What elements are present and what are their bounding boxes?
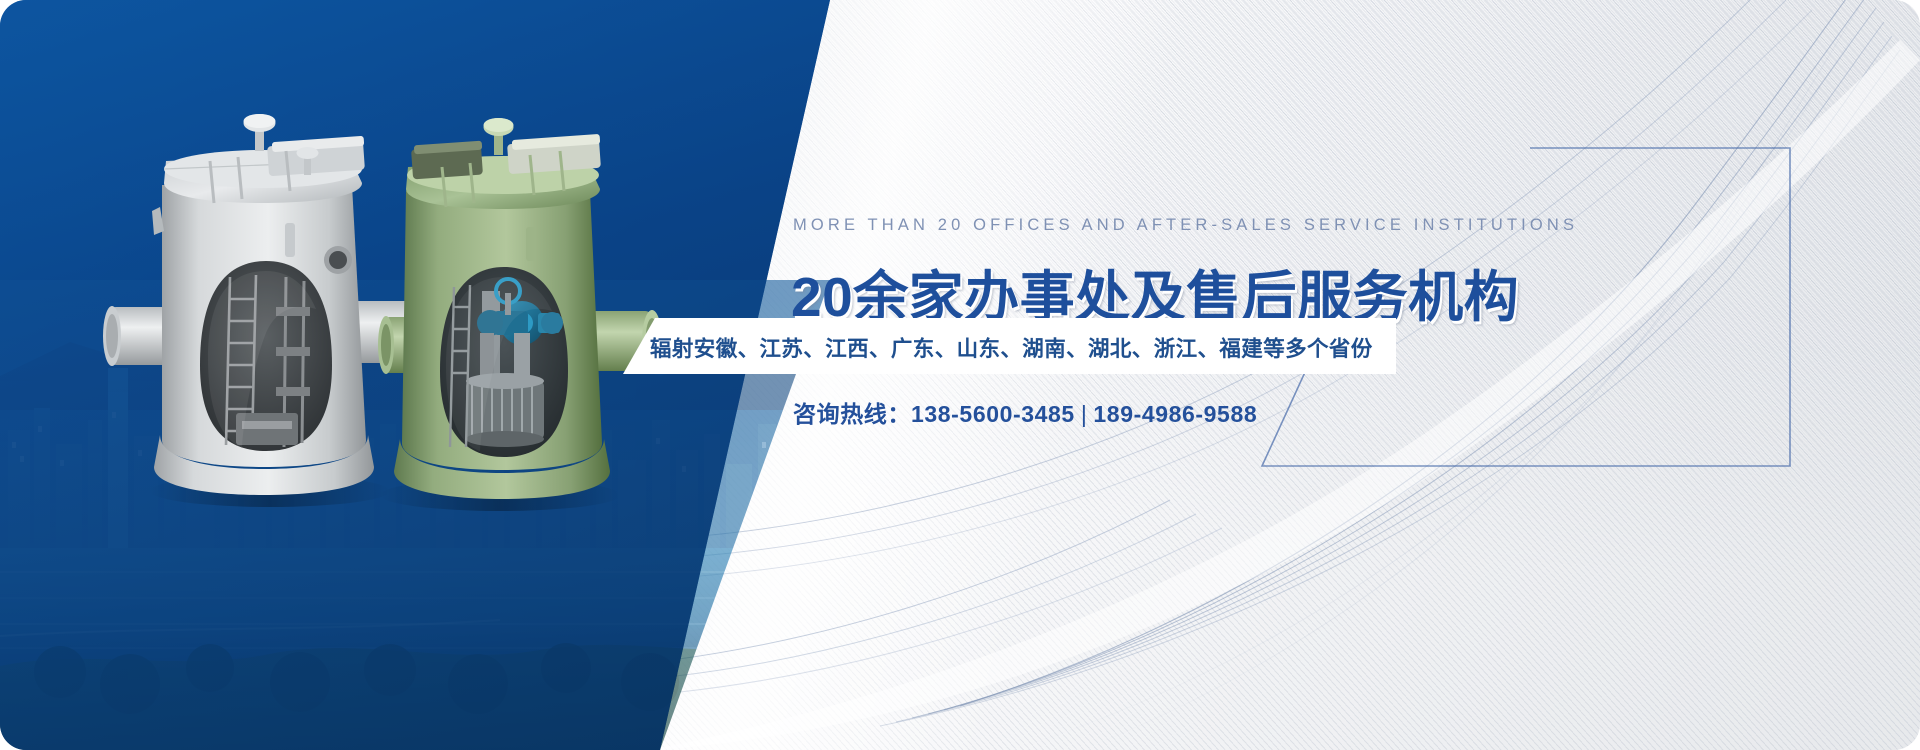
green-pump-station [378,118,662,499]
hotline-label: 咨询热线： [793,401,911,427]
province-list-text: 辐射安徽、江苏、江西、广东、山东、湖南、湖北、浙江、福建等多个省份 [650,332,1373,363]
hotline-row: 咨询热线：138-5600-3485|189-4986-9588 [793,395,1257,429]
product-illustrations [90,95,710,525]
hotline-number-2[interactable]: 189-4986-9588 [1093,401,1257,427]
promo-banner: MORE THAN 20 OFFICES AND AFTER-SALES SER… [0,0,1920,750]
eyebrow-text: MORE THAN 20 OFFICES AND AFTER-SALES SER… [793,216,1578,235]
gray-pump-station [103,114,426,495]
hotline-number-1[interactable]: 138-5600-3485 [911,401,1075,427]
hotline-separator: | [1075,401,1094,427]
